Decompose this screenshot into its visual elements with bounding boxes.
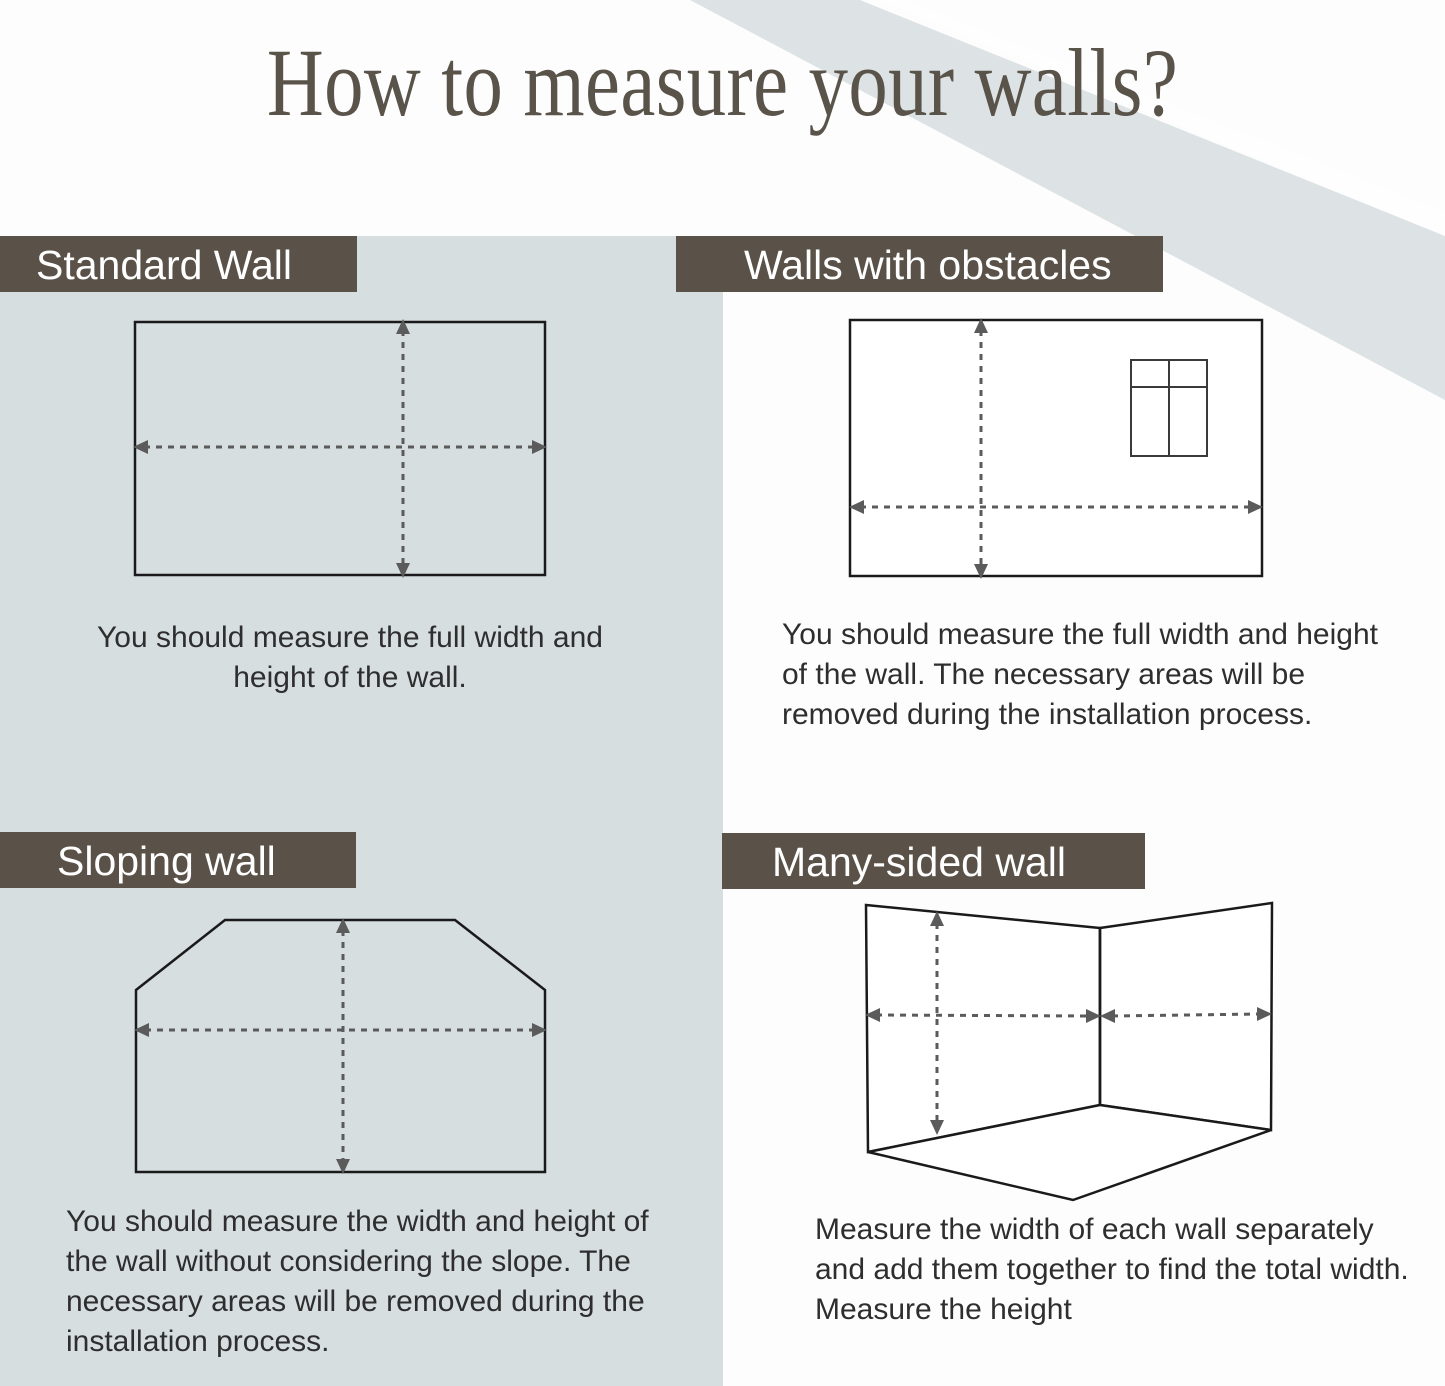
section-header-walls-with-obstacles-label: Walls with obstacles	[676, 236, 1163, 292]
caption-walls-with-obstacles: You should measure the full width and he…	[782, 615, 1407, 735]
section-header-sloping-wall: Sloping wall	[0, 832, 356, 888]
section-header-standard-wall: Standard Wall	[0, 236, 357, 292]
page-title: How to measure your walls?	[130, 28, 1315, 138]
section-header-many-sided-wall-label: Many-sided wall	[722, 833, 1145, 889]
diagram-walls-with-obstacles	[830, 300, 1290, 600]
section-header-walls-with-obstacles: Walls with obstacles	[676, 236, 1163, 292]
caption-many-sided-wall: Measure the width of each wall separatel…	[815, 1210, 1425, 1330]
caption-standard-wall: You should measure the full width and he…	[60, 618, 640, 698]
section-header-sloping-wall-label: Sloping wall	[0, 832, 356, 888]
diagram-sloping-wall	[110, 890, 580, 1200]
infographic-page: How to measure your walls? Standard Wall…	[0, 0, 1445, 1386]
window-icon	[1131, 360, 1207, 456]
section-header-standard-wall-label: Standard Wall	[0, 236, 357, 292]
diagram-standard-wall	[110, 300, 580, 600]
wall-outline-polygon	[136, 920, 545, 1172]
diagram-many-sided-wall	[840, 885, 1300, 1215]
caption-sloping-wall: You should measure the width and height …	[66, 1202, 666, 1362]
section-header-many-sided-wall: Many-sided wall	[722, 833, 1145, 889]
